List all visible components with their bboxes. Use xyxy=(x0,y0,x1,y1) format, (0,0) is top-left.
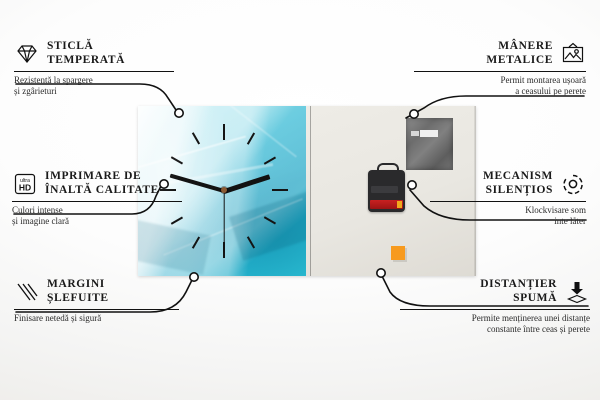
feature-subtitle-line1: Rezistentă la spargere xyxy=(14,75,174,86)
feature-title-line2: TEMPERATĂ xyxy=(47,54,125,68)
feature-divider xyxy=(12,201,182,202)
mechanism-loop xyxy=(377,163,399,175)
panel-seam xyxy=(310,106,311,276)
feature-subtitle-line2: a ceasului pe perete xyxy=(414,86,586,97)
feature-high-quality-print: ultra HD IMPRIMARE DE ÎNALTĂ CALITATE Cu… xyxy=(12,170,182,227)
feature-subtitle-line2: constante între ceas și perete xyxy=(400,324,590,335)
feature-divider xyxy=(14,309,179,310)
feature-subtitle: Klockvisare som inte låter xyxy=(430,205,586,227)
feature-header: STICLĂ TEMPERATĂ xyxy=(14,40,174,67)
feature-header: MECANISM SILENȚIOS xyxy=(430,170,586,197)
feature-title-line2: METALICE xyxy=(486,54,553,68)
feature-title-line1: STICLĂ xyxy=(47,40,125,54)
clock-mechanism xyxy=(368,170,405,212)
metal-hanger-plate xyxy=(406,118,453,170)
feature-subtitle-line1: Klockvisare som xyxy=(430,205,586,216)
feature-header: DISTANȚIER SPUMĂ xyxy=(400,278,590,305)
feature-silent-mechanism: MECANISM SILENȚIOS Klockvisare som inte … xyxy=(430,170,586,227)
feature-subtitle-line2: și imagine clară xyxy=(12,216,182,227)
feature-title-line1: MARGINI xyxy=(47,278,109,292)
feature-title-line1: MECANISM xyxy=(483,170,553,184)
feature-subtitle-line1: Culori intense xyxy=(12,205,182,216)
feature-title: MÂNERE METALICE xyxy=(486,40,553,67)
feature-title: DISTANȚIER SPUMĂ xyxy=(480,278,557,305)
feature-subtitle: Culori intense și imagine clară xyxy=(12,205,182,227)
feature-divider xyxy=(414,71,586,72)
feature-metal-handles: MÂNERE METALICE Permit montarea ușoară a… xyxy=(414,40,586,97)
feature-subtitle: Permite menținerea unei distanțe constan… xyxy=(400,313,590,335)
feature-title-line2: SILENȚIOS xyxy=(483,184,553,198)
diamond-icon xyxy=(14,42,40,66)
feature-title-line1: MÂNERE xyxy=(486,40,553,54)
feature-title-line1: DISTANȚIER xyxy=(480,278,557,292)
feature-title-line2: ȘLEFUITE xyxy=(47,292,109,306)
feature-subtitle-line1: Permit montarea ușoară xyxy=(414,75,586,86)
foam-spacer-pad xyxy=(391,246,405,260)
feature-tempered-glass: STICLĂ TEMPERATĂ Rezistentă la spargere … xyxy=(14,40,174,97)
ultra-hd-icon: ultra HD xyxy=(12,172,38,196)
mechanism-detail xyxy=(371,186,398,193)
feature-subtitle: Rezistentă la spargere și zgârieturi xyxy=(14,75,174,97)
feature-divider xyxy=(430,201,586,202)
feature-title: STICLĂ TEMPERATĂ xyxy=(47,40,125,67)
arrow-down-layers-icon xyxy=(564,280,590,304)
feature-title-line2: ÎNALTĂ CALITATE xyxy=(45,184,159,198)
battery xyxy=(370,200,403,209)
feature-divider xyxy=(14,71,174,72)
feature-subtitle-line1: Finisare netedă și sigură xyxy=(14,313,179,324)
feature-subtitle: Finisare netedă și sigură xyxy=(14,313,179,324)
feature-header: ultra HD IMPRIMARE DE ÎNALTĂ CALITATE xyxy=(12,170,182,197)
svg-text:HD: HD xyxy=(19,182,31,192)
feature-subtitle-line2: inte låter xyxy=(430,216,586,227)
polished-edges-icon xyxy=(14,280,40,304)
gear-icon xyxy=(560,172,586,196)
feature-foam-spacer: DISTANȚIER SPUMĂ Permite menținerea unei… xyxy=(400,278,590,335)
feature-subtitle-line2: și zgârieturi xyxy=(14,86,174,97)
feature-header: MARGINI ȘLEFUITE xyxy=(14,278,179,305)
feature-subtitle-line1: Permite menținerea unei distanțe xyxy=(400,313,590,324)
feature-divider xyxy=(400,309,590,310)
feature-title: MARGINI ȘLEFUITE xyxy=(47,278,109,305)
feature-header: MÂNERE METALICE xyxy=(414,40,586,67)
infographic-canvas: STICLĂ TEMPERATĂ Rezistentă la spargere … xyxy=(0,0,600,400)
feature-title-line1: IMPRIMARE DE xyxy=(45,170,159,184)
feature-subtitle: Permit montarea ușoară a ceasului pe per… xyxy=(414,75,586,97)
picture-hanger-icon xyxy=(560,42,586,66)
feature-title: MECANISM SILENȚIOS xyxy=(483,170,553,197)
product-photo xyxy=(138,106,476,276)
feature-polished-edges: MARGINI ȘLEFUITE Finisare netedă și sigu… xyxy=(14,278,179,324)
feature-title: IMPRIMARE DE ÎNALTĂ CALITATE xyxy=(45,170,159,197)
feature-title-line2: SPUMĂ xyxy=(480,292,557,306)
hanger-slot xyxy=(420,130,438,137)
